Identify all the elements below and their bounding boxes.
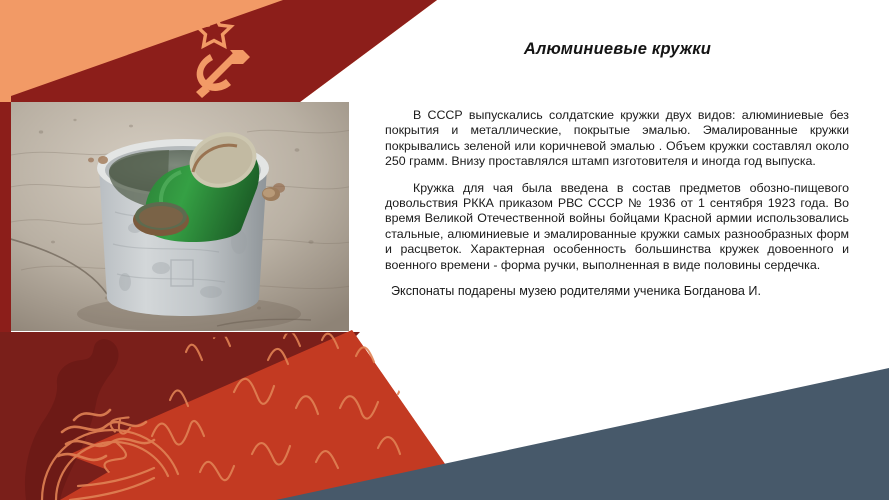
bottom-orange-wedge — [0, 335, 88, 470]
page-title: Алюминиевые кружки — [385, 40, 850, 59]
bottom-bright-red-band — [60, 330, 470, 500]
closing-note: Экспонаты подарены музею родителями учен… — [385, 284, 849, 299]
bottom-slate-triangle — [276, 368, 889, 500]
paragraph-1: В СССР выпускались солдатские кружки дву… — [385, 108, 849, 170]
hammer-and-sickle-star-icon — [196, 14, 250, 98]
presentation-slide: Алюминиевые кружки В СССР выпускались со… — [0, 0, 889, 500]
top-orange-shape — [0, 0, 437, 102]
top-dark-red-band — [11, 0, 437, 102]
title-container: Алюминиевые кружки — [385, 40, 850, 59]
left-dark-red-strip — [0, 102, 11, 340]
bottom-maroon-band — [0, 332, 360, 500]
photo-illustration — [11, 102, 349, 331]
slide-body-text: В СССР выпускались солдатские кружки дву… — [385, 108, 849, 299]
bottom-bright-red-band-b — [68, 330, 470, 500]
decorative-script-text — [42, 332, 420, 500]
paragraph-2: Кружка для чая была введена в состав пре… — [385, 181, 849, 273]
soldier-silhouette-icon — [25, 339, 119, 500]
exhibit-photo — [11, 102, 349, 331]
